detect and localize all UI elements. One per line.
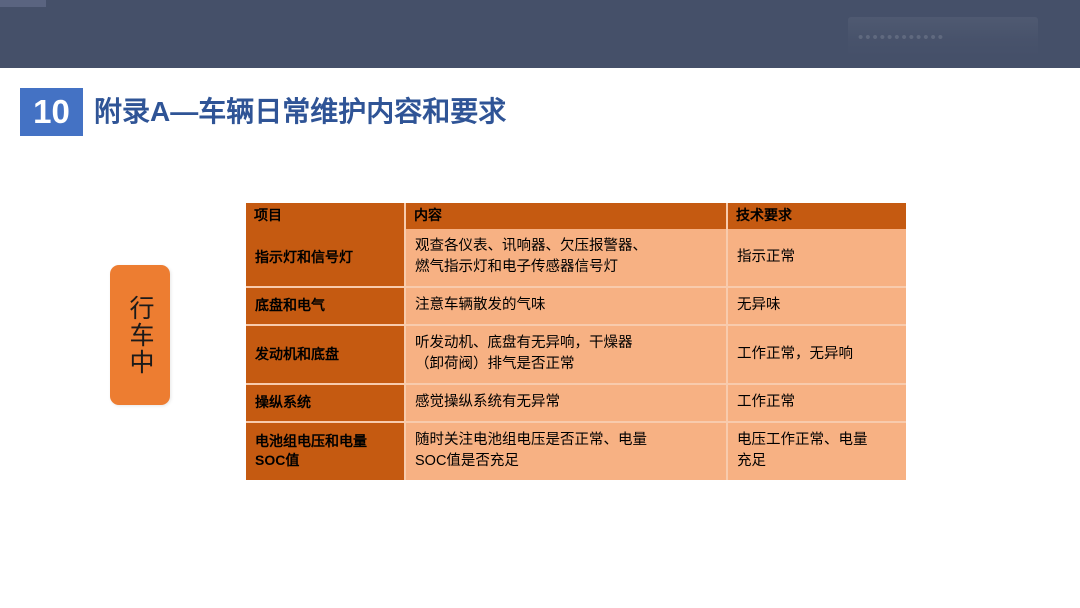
cell-content: 观查各仪表、讯响器、欠压报警器、 燃气指示灯和电子传感器信号灯 bbox=[405, 229, 727, 287]
cell-requirement: 无异味 bbox=[727, 287, 906, 325]
table-body: 指示灯和信号灯 观查各仪表、讯响器、欠压报警器、 燃气指示灯和电子传感器信号灯 … bbox=[246, 229, 906, 480]
table-row: 指示灯和信号灯 观查各仪表、讯响器、欠压报警器、 燃气指示灯和电子传感器信号灯 … bbox=[246, 229, 906, 287]
cell-content: 感觉操纵系统有无异常 bbox=[405, 384, 727, 422]
cell-requirement: 电压工作正常、电量 充足 bbox=[727, 422, 906, 480]
header-band-accent bbox=[0, 0, 46, 7]
maintenance-table: 项目 内容 技术要求 指示灯和信号灯 观查各仪表、讯响器、欠压报警器、 燃气指示… bbox=[246, 203, 906, 480]
cell-content: 注意车辆散发的气味 bbox=[405, 287, 727, 325]
table-header-row: 项目 内容 技术要求 bbox=[246, 203, 906, 229]
cell-item: 电池组电压和电量 SOC值 bbox=[246, 422, 405, 480]
cell-item: 发动机和底盘 bbox=[246, 325, 405, 384]
cell-requirement: 工作正常，无异响 bbox=[727, 325, 906, 384]
cell-item: 指示灯和信号灯 bbox=[246, 229, 405, 287]
cell-content: 随时关注电池组电压是否正常、电量 SOC值是否充足 bbox=[405, 422, 727, 480]
page-title: 附录A—车辆日常维护内容和要求 bbox=[94, 90, 506, 134]
table-row: 电池组电压和电量 SOC值 随时关注电池组电压是否正常、电量 SOC值是否充足 … bbox=[246, 422, 906, 480]
cell-requirement: 工作正常 bbox=[727, 384, 906, 422]
table-row: 底盘和电气 注意车辆散发的气味 无异味 bbox=[246, 287, 906, 325]
header-watermark-text: •••••••••••• bbox=[858, 26, 1030, 50]
slide-canvas: •••••••••••• 10 附录A—车辆日常维护内容和要求 行车中 项目 内… bbox=[0, 0, 1080, 608]
title-row: 10 附录A—车辆日常维护内容和要求 bbox=[0, 88, 1080, 140]
cell-requirement: 指示正常 bbox=[727, 229, 906, 287]
cell-content: 听发动机、底盘有无异响，干燥器 （卸荷阀）排气是否正常 bbox=[405, 325, 727, 384]
column-header-requirement: 技术要求 bbox=[727, 203, 906, 229]
column-header-content: 内容 bbox=[405, 203, 727, 229]
cell-item: 操纵系统 bbox=[246, 384, 405, 422]
table-row: 操纵系统 感觉操纵系统有无异常 工作正常 bbox=[246, 384, 906, 422]
phase-tag-label: 行车中 bbox=[110, 265, 170, 405]
phase-tag-driving: 行车中 bbox=[110, 265, 170, 405]
slide-number-badge: 10 bbox=[20, 88, 83, 136]
table-row: 发动机和底盘 听发动机、底盘有无异响，干燥器 （卸荷阀）排气是否正常 工作正常，… bbox=[246, 325, 906, 384]
cell-item: 底盘和电气 bbox=[246, 287, 405, 325]
column-header-item: 项目 bbox=[246, 203, 405, 229]
table-header: 项目 内容 技术要求 bbox=[246, 203, 906, 229]
